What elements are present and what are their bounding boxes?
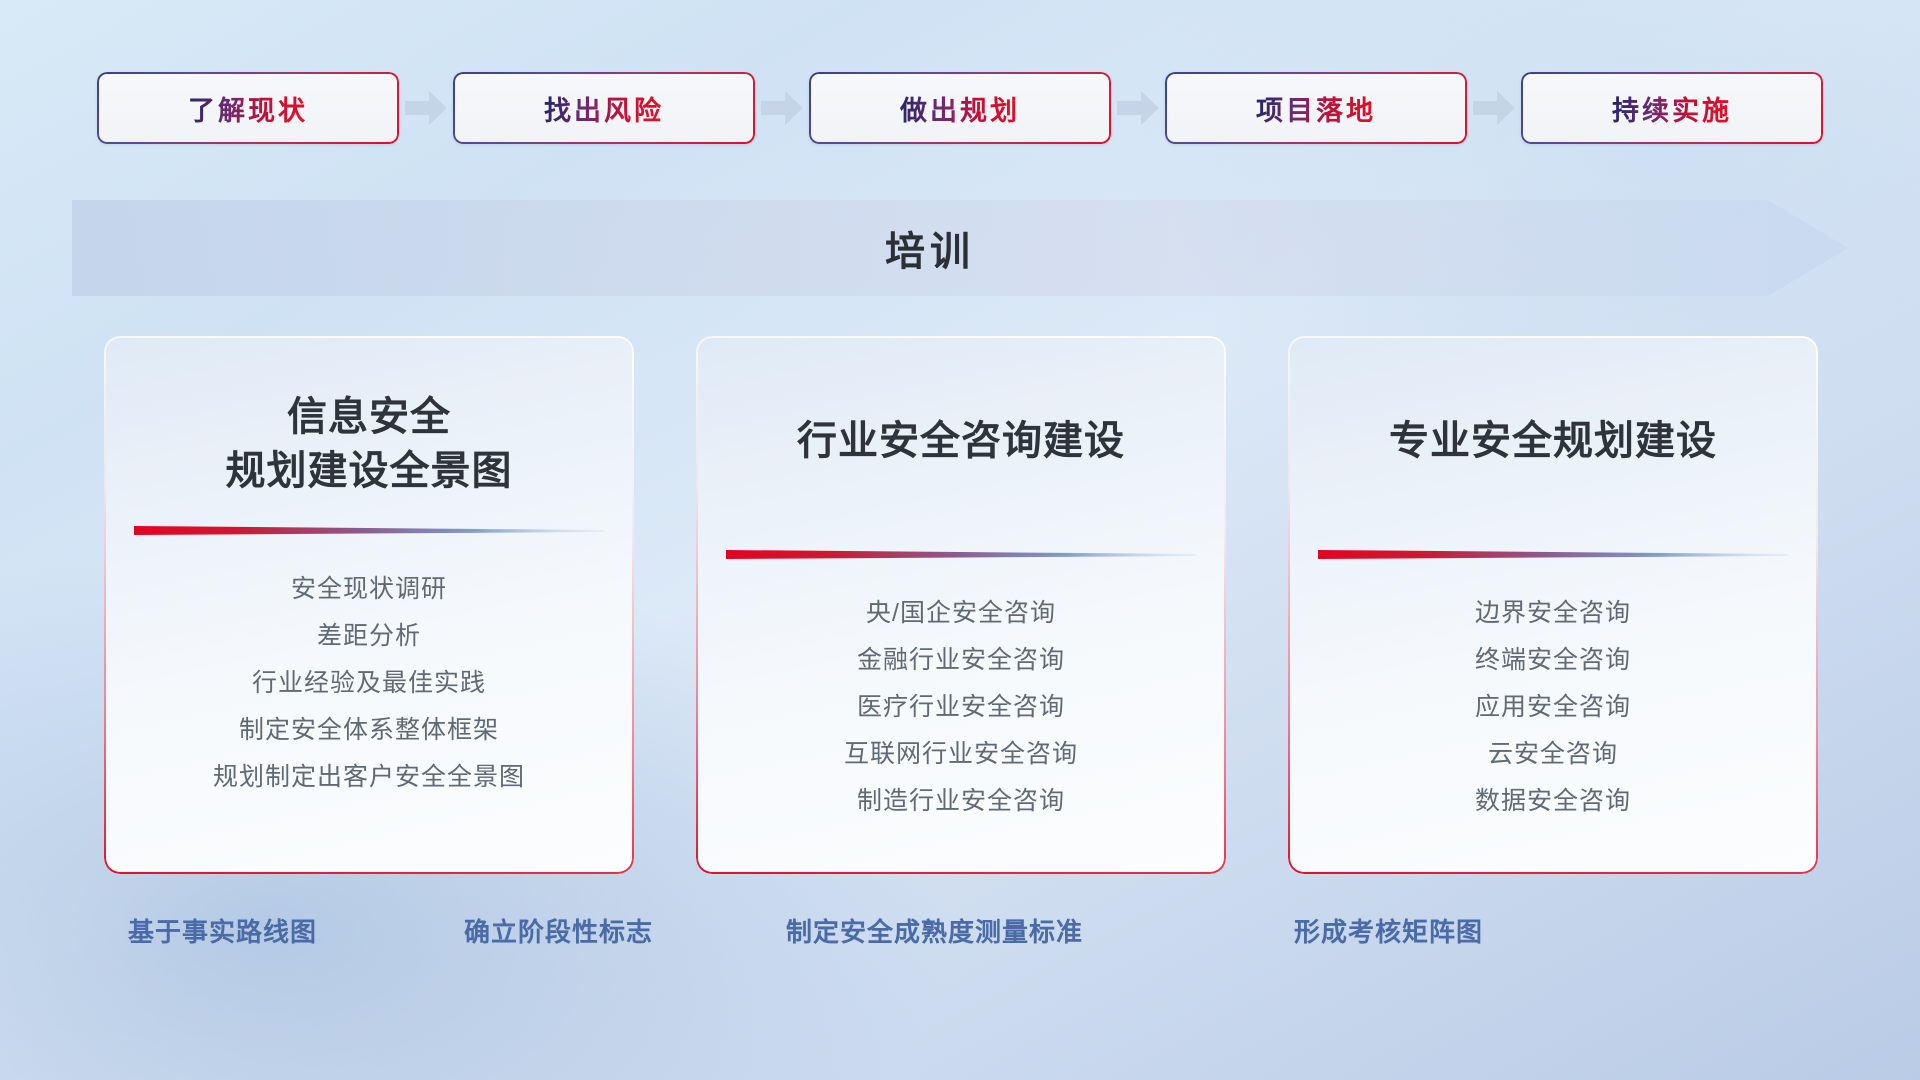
list-item: 边界安全咨询 xyxy=(1314,590,1792,637)
list-item: 医疗行业安全咨询 xyxy=(722,684,1200,731)
step-box-3[interactable]: 做出规划 xyxy=(809,72,1111,144)
card-item-list: 安全现状调研 差距分析 行业经验及最佳实践 制定安全体系整体框架 规划制定出客户… xyxy=(104,566,634,801)
list-item: 规划制定出客户安全全景图 xyxy=(130,754,608,801)
gradient-rule-icon xyxy=(134,524,604,538)
caption-maturity: 制定安全成熟度测量标准 xyxy=(786,912,1083,949)
step-label: 项目落地 xyxy=(1256,89,1376,128)
list-item: 央/国企安全咨询 xyxy=(722,590,1200,637)
step-wrap-2: 做出规划 xyxy=(809,72,1111,144)
step-wrap-0: 了解现状 xyxy=(97,72,399,144)
training-arrow-band: 培训 xyxy=(72,200,1848,296)
card-title: 行业安全咨询建设 xyxy=(696,414,1226,468)
list-item: 制造行业安全咨询 xyxy=(722,778,1200,825)
step-arrow-icon-2 xyxy=(755,91,809,125)
step-box-2[interactable]: 找出风险 xyxy=(453,72,755,144)
card-professional-security-planning[interactable]: 专业安全规划建设 边界安 xyxy=(1288,336,1818,874)
process-step-flow: 了解现状 找出风险 做出规划 项目落地 xyxy=(0,72,1920,144)
step-arrow-icon-3 xyxy=(1111,91,1165,125)
caption-matrix: 形成考核矩阵图 xyxy=(1294,912,1483,949)
card-title-line: 规划建设全景图 xyxy=(128,444,610,498)
step-label: 持续实施 xyxy=(1612,89,1732,128)
step-wrap-1: 找出风险 xyxy=(453,72,755,144)
step-label: 了解现状 xyxy=(188,89,308,128)
caption-roadmap: 基于事实路线图 xyxy=(128,912,317,949)
step-label: 找出风险 xyxy=(544,89,664,128)
card-item-list: 边界安全咨询 终端安全咨询 应用安全咨询 云安全咨询 数据安全咨询 xyxy=(1288,590,1818,825)
card-group: 信息安全 规划建设全景图 xyxy=(104,336,1864,876)
step-box-1[interactable]: 了解现状 xyxy=(97,72,399,144)
step-arrow-icon-1 xyxy=(399,91,453,125)
card-information-security-blueprint[interactable]: 信息安全 规划建设全景图 xyxy=(104,336,634,874)
card-item-list: 央/国企安全咨询 金融行业安全咨询 医疗行业安全咨询 互联网行业安全咨询 制造行… xyxy=(696,590,1226,825)
list-item: 应用安全咨询 xyxy=(1314,684,1792,731)
list-item: 互联网行业安全咨询 xyxy=(722,731,1200,778)
list-item: 安全现状调研 xyxy=(130,566,608,613)
list-item: 终端安全咨询 xyxy=(1314,637,1792,684)
card-industry-security-consulting[interactable]: 行业安全咨询建设 央/国 xyxy=(696,336,1226,874)
band-title: 培训 xyxy=(72,200,1848,296)
gradient-rule-icon xyxy=(1318,548,1788,562)
list-item: 制定安全体系整体框架 xyxy=(130,707,608,754)
step-wrap-4: 持续实施 xyxy=(1521,72,1823,144)
step-box-4[interactable]: 项目落地 xyxy=(1165,72,1467,144)
step-box-5[interactable]: 持续实施 xyxy=(1521,72,1823,144)
step-wrap-3: 项目落地 xyxy=(1165,72,1467,144)
card-title-line: 专业安全规划建设 xyxy=(1312,414,1794,468)
caption-milestone: 确立阶段性标志 xyxy=(464,912,653,949)
list-item: 数据安全咨询 xyxy=(1314,778,1792,825)
list-item: 金融行业安全咨询 xyxy=(722,637,1200,684)
card-title: 信息安全 规划建设全景图 xyxy=(104,390,634,498)
card-title-line: 行业安全咨询建设 xyxy=(720,414,1202,468)
caption-row: 基于事实路线图 确立阶段性标志 制定安全成熟度测量标准 形成考核矩阵图 xyxy=(0,912,1920,960)
gradient-rule-icon xyxy=(726,548,1196,562)
step-arrow-icon-4 xyxy=(1467,91,1521,125)
card-title-line: 信息安全 xyxy=(128,390,610,444)
list-item: 行业经验及最佳实践 xyxy=(130,660,608,707)
list-item: 差距分析 xyxy=(130,613,608,660)
step-label: 做出规划 xyxy=(900,89,1020,128)
list-item: 云安全咨询 xyxy=(1314,731,1792,778)
card-title: 专业安全规划建设 xyxy=(1288,414,1818,468)
